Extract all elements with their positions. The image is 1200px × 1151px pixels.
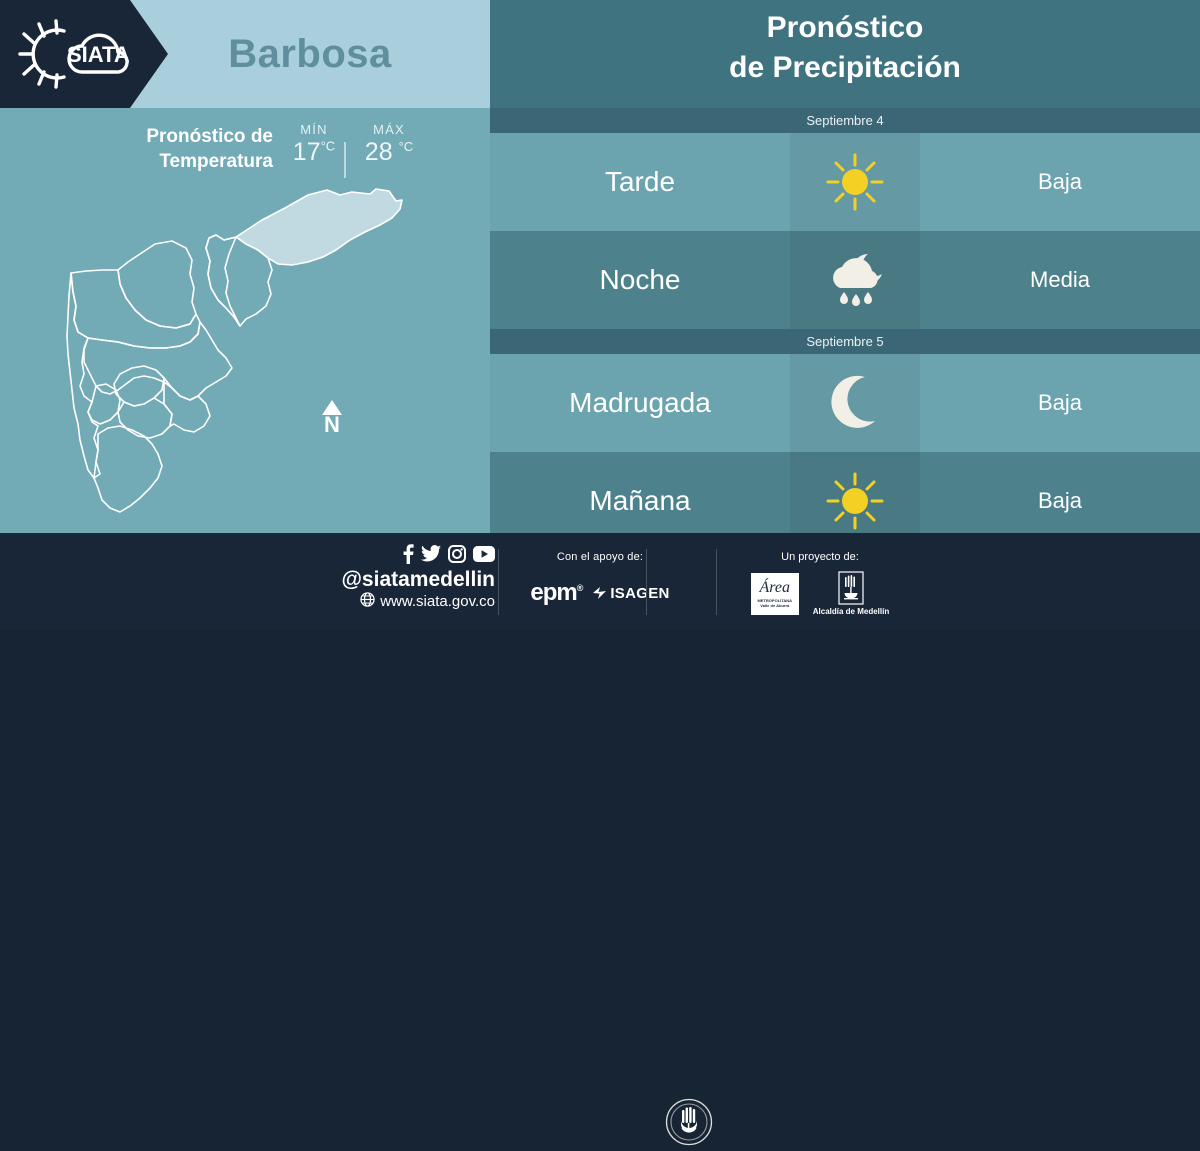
social-icons <box>300 545 495 567</box>
alcaldia-crest-icon <box>838 571 864 605</box>
temperature-block: Pronóstico de Temperatura MÍN 17°C MÁX 2… <box>0 122 490 182</box>
area-logo-sub2: Valle de Aburrá <box>760 603 789 608</box>
page-title: Barbosa <box>130 0 490 108</box>
globe-icon <box>360 592 375 613</box>
temperature-min-value-group: 17°C <box>280 138 348 167</box>
header: SIATA Barbosa Pronóstico de Precipitació… <box>0 0 1200 108</box>
social-column: @siatamedellin www.siata.gov.co <box>300 545 495 612</box>
temperature-min-unit: °C <box>321 139 336 154</box>
period-label: Noche <box>490 264 790 296</box>
instagram-icon[interactable] <box>448 545 466 568</box>
precipitation-table: Septiembre 4 Tarde <box>490 108 1200 533</box>
probability-label: Baja <box>920 390 1200 416</box>
date-band: Septiembre 4 <box>490 108 1200 133</box>
siata-logo-icon: SIATA <box>12 17 132 91</box>
temperature-max-unit: °C <box>399 139 414 154</box>
moon-icon <box>790 354 920 452</box>
temperature-min: MÍN 17°C <box>280 122 348 167</box>
alcaldia-label: Alcaldía de Medellín <box>813 607 889 616</box>
temperature-min-caption: MÍN <box>280 122 348 137</box>
isagen-mark-icon <box>592 586 607 600</box>
university-seal-icon <box>665 1098 713 1146</box>
temperature-max-value-group: 28°C <box>350 138 428 167</box>
epm-logo: epm® <box>530 579 582 607</box>
forecast-title-line1: Pronóstico <box>767 11 924 44</box>
website-label: www.siata.gov.co <box>380 593 495 612</box>
temperature-label: Pronóstico de Temperatura <box>58 124 273 175</box>
probability-label: Baja <box>920 169 1200 195</box>
date-label: Septiembre 5 <box>806 334 883 349</box>
facebook-icon[interactable] <box>402 544 414 569</box>
support-logos: epm® ISAGEN <box>520 579 680 607</box>
social-handle[interactable]: @siatamedellin <box>300 568 495 592</box>
isagen-logo: ISAGEN <box>592 585 669 602</box>
probability-label: Baja <box>920 488 1200 514</box>
date-band: Septiembre 5 <box>490 329 1200 354</box>
website-link[interactable]: www.siata.gov.co <box>300 592 495 613</box>
temperature-min-value: 17 <box>293 138 321 166</box>
period-label: Madrugada <box>490 387 790 419</box>
temperature-label-line1: Pronóstico de <box>146 126 273 147</box>
table-row: Noche Media <box>490 231 1200 329</box>
table-row: Madrugada Baja <box>490 354 1200 452</box>
period-label: Mañana <box>490 485 790 517</box>
header-left: SIATA Barbosa <box>0 0 490 108</box>
temperature-max-value: 28 <box>365 138 393 166</box>
area-metropolitana-logo: Área METROPOLITANA Valle de Aburrá <box>751 573 799 615</box>
north-arrow-icon: N <box>315 400 349 436</box>
footer: @siatamedellin www.siata.gov.co Con el a… <box>0 533 1200 630</box>
forecast-title-line2: de Precipitación <box>729 51 961 84</box>
period-label: Tarde <box>490 166 790 198</box>
table-row: Tarde Baja <box>490 133 1200 231</box>
siata-logo-text: SIATA <box>67 42 130 67</box>
footer-divider-2 <box>646 549 647 615</box>
project-caption: Un proyecto de: <box>720 551 920 563</box>
forecast-title: Pronóstico de Precipitación <box>490 8 1200 88</box>
support-column: Con el apoyo de: epm® ISAGEN <box>520 551 680 607</box>
temperature-max-caption: MÁX <box>350 122 428 137</box>
temperature-label-line2: Temperatura <box>159 151 273 172</box>
isagen-logo-text: ISAGEN <box>610 585 669 602</box>
project-column: Un proyecto de: Área METROPOLITANA Valle… <box>720 551 920 616</box>
footer-divider-1 <box>498 549 499 615</box>
area-logo-script: Área <box>760 580 791 596</box>
weather-forecast-poster: SIATA Barbosa Pronóstico de Precipitació… <box>0 0 1200 630</box>
youtube-icon[interactable] <box>473 546 495 567</box>
map-panel: Pronóstico de Temperatura MÍN 17°C MÁX 2… <box>0 108 490 533</box>
footer-divider-3 <box>716 549 717 615</box>
date-label: Septiembre 4 <box>806 113 883 128</box>
probability-label: Media <box>920 267 1200 293</box>
project-logos: Área METROPOLITANA Valle de Aburrá <box>720 571 920 616</box>
moon-rain-icon <box>790 231 920 329</box>
sun-icon <box>790 133 920 231</box>
municipality-map: N <box>40 178 460 523</box>
north-label: N <box>315 414 349 436</box>
temperature-divider <box>344 142 346 178</box>
temperature-max: MÁX 28°C <box>350 122 428 167</box>
twitter-icon[interactable] <box>421 545 441 568</box>
map-region-barbosa <box>236 189 402 265</box>
area-logo-sub: METROPOLITANA Valle de Aburrá <box>757 598 792 608</box>
alcaldia-logo: Alcaldía de Medellín <box>813 571 889 616</box>
support-caption: Con el apoyo de: <box>520 551 680 563</box>
epm-logo-text: epm <box>530 579 576 606</box>
header-right: Pronóstico de Precipitación <box>490 0 1200 108</box>
